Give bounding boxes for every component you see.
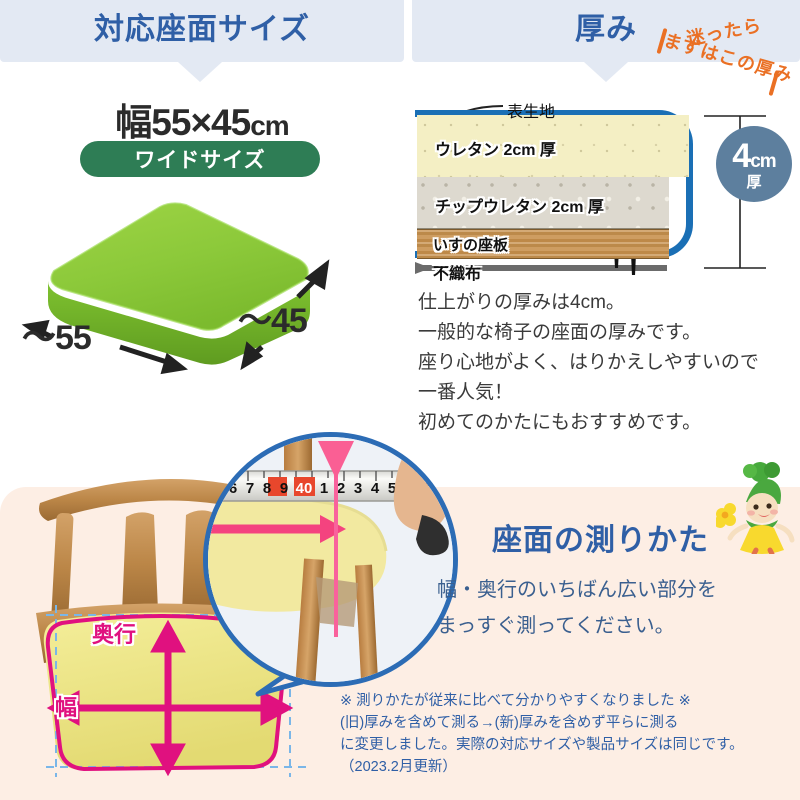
howto-body: 幅・奥行のいちばん広い部分を まっすぐ測ってください。 xyxy=(437,572,787,644)
description-line-5: 初めてのかたにもおすすめです。 xyxy=(418,408,793,438)
measure-closeup-inset: 567 89 40 123 456 78 40 xyxy=(203,432,458,687)
header-left-notch xyxy=(178,62,222,82)
label-surface-fabric: 表生地 xyxy=(507,98,555,122)
svg-text:4: 4 xyxy=(371,480,380,497)
thickness-badge: 4cm 厚 xyxy=(716,126,792,202)
depth-label: 奥行 xyxy=(92,617,136,649)
footnote-line-2: (旧)厚みを含めて測る→(新)厚みを含めず平らに測る xyxy=(340,712,790,734)
howto-title: 座面の測りかた xyxy=(492,515,709,559)
description-line-4: 一番人気！ xyxy=(418,378,793,408)
footnote: ※ 測りかたが従来に比べて分かりやすくなりました ※ (旧)厚みを含めて測る→(… xyxy=(340,690,790,778)
description-line-3: 座り心地がよく、はりかえしやすいので xyxy=(418,348,793,378)
svg-text:9: 9 xyxy=(280,480,288,497)
cushion-illustration: 〜55 〜45 xyxy=(10,185,400,385)
thickness-badge-sub: 厚 xyxy=(746,175,761,190)
label-seat-board: いすの座板 xyxy=(433,234,508,255)
header-right-notch xyxy=(584,62,628,82)
cross-section-diagram: 表生地 ウレタン 2cm 厚 チップウレタン 2cm 厚 いすの座板 不織布 xyxy=(415,100,715,275)
howto-body-line-1: 幅・奥行のいちばん広い部分を xyxy=(437,572,787,608)
wide-size-badge-label: ワイドサイズ xyxy=(134,144,265,174)
svg-text:8: 8 xyxy=(263,480,271,497)
thickness-description: 仕上がりの厚みは4cm。 一般的な椅子の座面の厚みです。 座り心地がよく、はりか… xyxy=(418,288,793,438)
header-left-title: 対応座面サイズ xyxy=(0,10,404,50)
header-panel-left: 対応座面サイズ xyxy=(0,0,404,62)
infographic-canvas: 対応座面サイズ 厚み 迷ったら まずはこの厚み 幅55×45cm ワイドサイズ xyxy=(0,0,800,800)
svg-text:6: 6 xyxy=(229,480,237,497)
thickness-value: 4 xyxy=(732,137,750,175)
svg-text:40: 40 xyxy=(296,480,313,497)
seat-size-text: 幅55×45cm xyxy=(0,92,404,146)
thickness-badge-number: 4cm xyxy=(732,139,775,173)
seat-size-value: 幅55×45 xyxy=(115,102,250,143)
footnote-line-3: に変更しました。実際の対応サイズや製品サイズは同じです。 xyxy=(340,734,790,756)
label-chip-urethane: チップウレタン 2cm 厚 xyxy=(435,193,604,217)
footnote-line-4: （2023.2月更新） xyxy=(340,756,790,778)
width-label: 幅 xyxy=(55,690,77,722)
measure-closeup-svg: 567 89 40 123 456 78 40 xyxy=(208,437,453,682)
thickness-unit: cm xyxy=(750,151,775,172)
svg-text:1: 1 xyxy=(320,480,328,497)
label-nonwoven: 不織布 xyxy=(433,260,481,284)
svg-text:2: 2 xyxy=(337,480,345,497)
description-line-1: 仕上がりの厚みは4cm。 xyxy=(418,288,793,318)
label-urethane: ウレタン 2cm 厚 xyxy=(435,136,556,160)
seat-size-unit: cm xyxy=(250,110,288,141)
wide-size-badge: ワイドサイズ xyxy=(80,141,320,177)
fairy-mascot-icon xyxy=(716,462,800,554)
footnote-line-1: ※ 測りかたが従来に比べて分かりやすくなりました ※ xyxy=(340,690,790,712)
svg-text:3: 3 xyxy=(354,480,362,497)
dimension-label-width: 〜55 xyxy=(22,310,91,359)
svg-text:7: 7 xyxy=(246,480,254,497)
dimension-label-depth: 〜45 xyxy=(238,293,307,342)
howto-body-line-2: まっすぐ測ってください。 xyxy=(437,608,787,644)
description-line-2: 一般的な椅子の座面の厚みです。 xyxy=(418,318,793,348)
